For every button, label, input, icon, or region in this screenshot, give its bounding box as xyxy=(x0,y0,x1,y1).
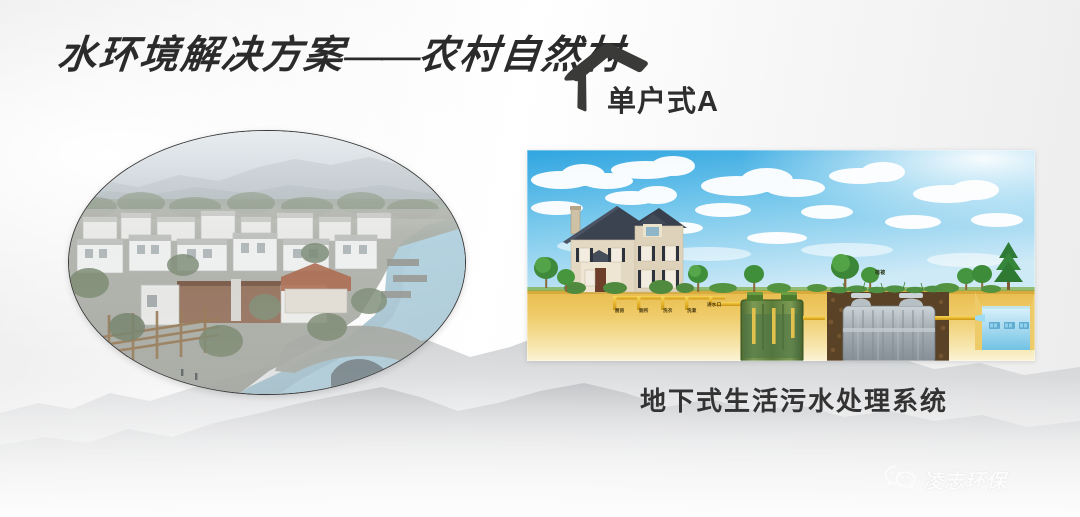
diagram-label-inlet: 进水口 xyxy=(707,302,721,307)
page-title-dash: —— xyxy=(342,34,421,77)
diagram-label-washing: 洗漱 xyxy=(687,308,697,313)
diagram-label-laundry: 洗衣 xyxy=(663,308,673,313)
diagram-caption: 地下式生活污水处理系统 xyxy=(640,381,948,418)
page-title: 水环境解决方案——农村自然村 xyxy=(55,24,627,80)
single-household-badge-label: 单户式A xyxy=(607,78,719,120)
village-aerial-photo xyxy=(68,130,466,395)
watermark: 凌志环保 xyxy=(884,464,1007,495)
watermark-label: 凌志环保 xyxy=(923,465,1007,494)
page-title-main: 水环境解决方案 xyxy=(55,34,347,77)
wechat-icon xyxy=(884,464,916,495)
diagram-label-vegetation: 植被 xyxy=(875,271,885,276)
village-aerial-photo-image xyxy=(69,131,465,394)
diagram-label-kitchen: 厨房 xyxy=(615,308,625,313)
diagram-label-toilet: 厕所 xyxy=(639,308,649,313)
underground-sewage-treatment-diagram: 厨房 厕所 洗衣 洗漱 进水口 化粪池 净化槽 植被 xyxy=(527,150,1035,361)
slide-page: 水环境解决方案——农村自然村 单户式A xyxy=(0,0,1080,517)
